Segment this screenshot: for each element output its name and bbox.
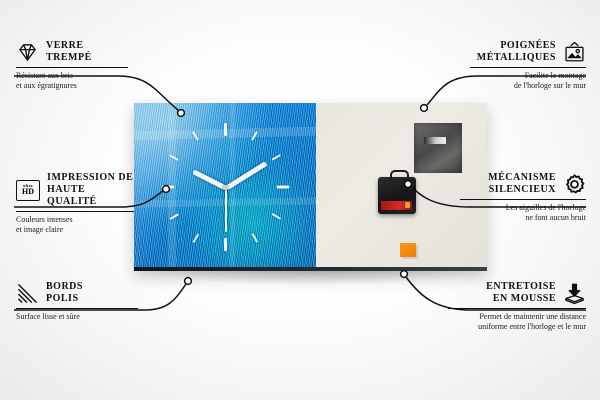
connector-dot — [185, 278, 192, 285]
callout-desc: ne font aucun bruit — [460, 213, 586, 223]
callout-rule — [448, 308, 586, 309]
callout-mecanisme-silencieux[interactable]: MÉCANISME SILENCIEUX Les aiguilles de l'… — [460, 172, 586, 223]
callout-title: SILENCIEUX — [488, 184, 556, 196]
callout-title: EN MOUSSE — [486, 293, 556, 305]
callout-title: MÉCANISME — [488, 172, 556, 184]
connector-dot — [178, 110, 185, 117]
callout-desc: Les aiguilles de l'horloge — [460, 203, 586, 213]
connector-dot — [405, 181, 412, 188]
infographic-canvas: VERRE TREMPÉ Résistant aux bris et aux é… — [0, 0, 600, 400]
callout-desc: Couleurs intenses — [16, 215, 134, 225]
callout-rule — [16, 67, 128, 68]
wall-frame-hook-icon — [563, 41, 586, 64]
foam-spacer-arrow-icon — [563, 282, 586, 305]
callout-desc: et aux égratignures — [16, 81, 128, 91]
callout-title: TREMPÉ — [46, 52, 92, 64]
callout-rule — [470, 67, 586, 68]
callout-title: MÉTALLIQUES — [477, 52, 556, 64]
callout-impression-haute-qualite[interactable]: ultra HD IMPRESSION DE HAUTE QUALITÉ Cou… — [16, 172, 134, 235]
callout-title: ENTRETOISE — [486, 281, 556, 293]
connector-dot — [163, 186, 170, 193]
callout-desc: uniforme entre l'horloge et le mur — [448, 322, 586, 332]
callout-title: POLIS — [46, 293, 83, 305]
diamond-icon — [16, 41, 39, 64]
callout-desc: de l'horloge sur le mur — [470, 81, 586, 91]
ultra-hd-icon-large-text: HD — [22, 188, 34, 196]
callout-verre-trempe[interactable]: VERRE TREMPÉ Résistant aux bris et aux é… — [16, 40, 128, 91]
callout-desc: Facilite le montage — [470, 71, 586, 81]
callout-title: HAUTE QUALITÉ — [47, 184, 134, 208]
callout-rule — [16, 308, 138, 309]
gear-icon — [563, 173, 586, 196]
callout-rule — [16, 211, 134, 212]
callout-title: VERRE — [46, 40, 92, 52]
callout-entretoise-en-mousse[interactable]: ENTRETOISE EN MOUSSE Permet de maintenir… — [448, 281, 586, 332]
callout-title: BORDS — [46, 281, 83, 293]
connector-dot — [421, 105, 428, 112]
callout-title: POIGNÉES — [477, 40, 556, 52]
connector-dot — [401, 271, 408, 278]
ultra-hd-icon: ultra HD — [16, 180, 40, 201]
callout-desc: Résistant aux bris — [16, 71, 128, 81]
callout-poignees-metalliques[interactable]: POIGNÉES MÉTALLIQUES Facilite le montage… — [470, 40, 586, 91]
callout-rule — [460, 199, 586, 200]
callout-bords-polis[interactable]: BORDS POLIS Surface lisse et sûre — [16, 281, 138, 322]
callout-desc: Surface lisse et sûre — [16, 312, 138, 322]
callout-desc: et image claire — [16, 225, 134, 235]
polished-edge-icon — [16, 282, 39, 305]
callout-desc: Permet de maintenir une distance — [448, 312, 586, 322]
callout-title: IMPRESSION DE — [47, 172, 134, 184]
